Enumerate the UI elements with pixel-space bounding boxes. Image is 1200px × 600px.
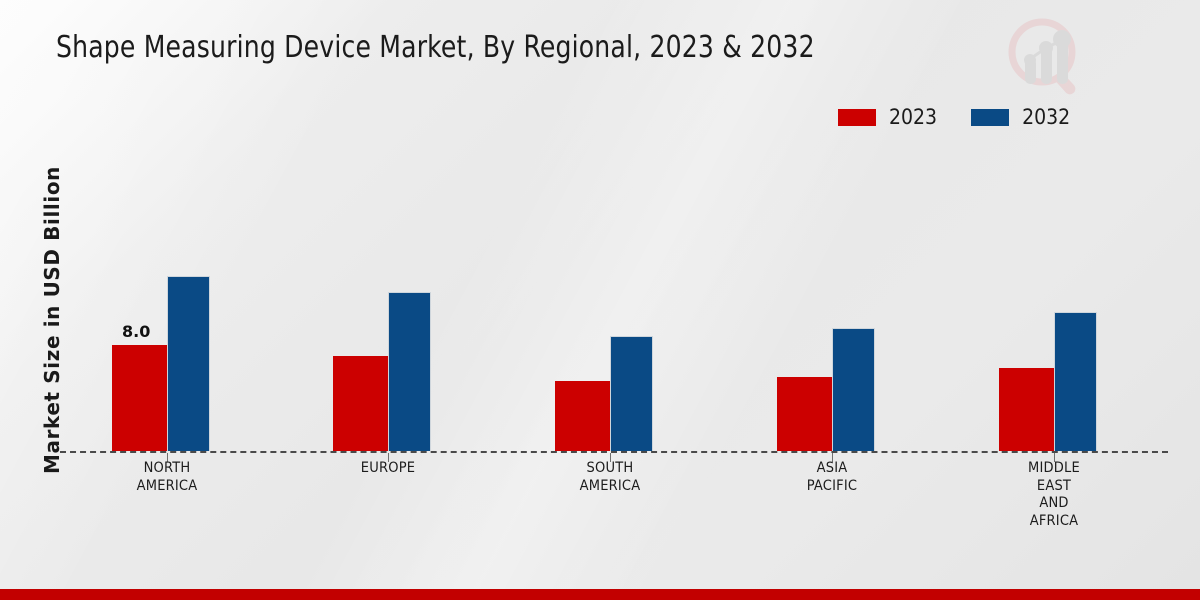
bar-2023-middle-east-and-africa[interactable] xyxy=(999,368,1054,451)
x-axis-label-line: PACIFIC xyxy=(762,478,902,496)
x-axis-label-line: EAST xyxy=(984,478,1124,496)
bar-2023-north-america[interactable] xyxy=(112,345,167,451)
x-axis-label-line: AND xyxy=(984,495,1124,513)
x-axis-label-north-america: NORTHAMERICA xyxy=(97,460,237,495)
bar-2032-europe[interactable] xyxy=(388,292,431,451)
footer-accent-band xyxy=(0,589,1200,600)
x-axis-label-line: EUROPE xyxy=(318,460,458,478)
x-axis-label-europe: EUROPE xyxy=(318,460,458,478)
bar-2032-south-america[interactable] xyxy=(610,336,653,451)
bar-2032-asia-pacific[interactable] xyxy=(832,328,875,451)
bar-2032-north-america[interactable] xyxy=(167,276,210,451)
x-axis-label-south-america: SOUTHAMERICA xyxy=(540,460,680,495)
bar-2023-south-america[interactable] xyxy=(555,381,610,451)
x-axis-label-line: AMERICA xyxy=(97,478,237,496)
x-axis-label-asia-pacific: ASIAPACIFIC xyxy=(762,460,902,495)
bar-2023-europe[interactable] xyxy=(333,356,388,451)
chart-canvas: Shape Measuring Device Market, By Region… xyxy=(0,0,1200,600)
plot-area: 8.0 NORTHAMERICAEUROPESOUTHAMERICAASIAPA… xyxy=(0,0,1200,600)
x-axis-label-middle-east-and-africa: MIDDLEEASTANDAFRICA xyxy=(984,460,1124,531)
bar-value-label: 8.0 xyxy=(122,322,150,341)
x-axis-label-line: ASIA xyxy=(762,460,902,478)
bar-2023-asia-pacific[interactable] xyxy=(777,377,832,451)
x-axis-label-line: AMERICA xyxy=(540,478,680,496)
bar-2032-middle-east-and-africa[interactable] xyxy=(1054,312,1097,451)
x-axis-label-line: NORTH xyxy=(97,460,237,478)
x-axis-label-line: AFRICA xyxy=(984,513,1124,531)
x-axis-label-line: SOUTH xyxy=(540,460,680,478)
x-axis-label-line: MIDDLE xyxy=(984,460,1124,478)
axis-baseline xyxy=(60,451,1168,453)
